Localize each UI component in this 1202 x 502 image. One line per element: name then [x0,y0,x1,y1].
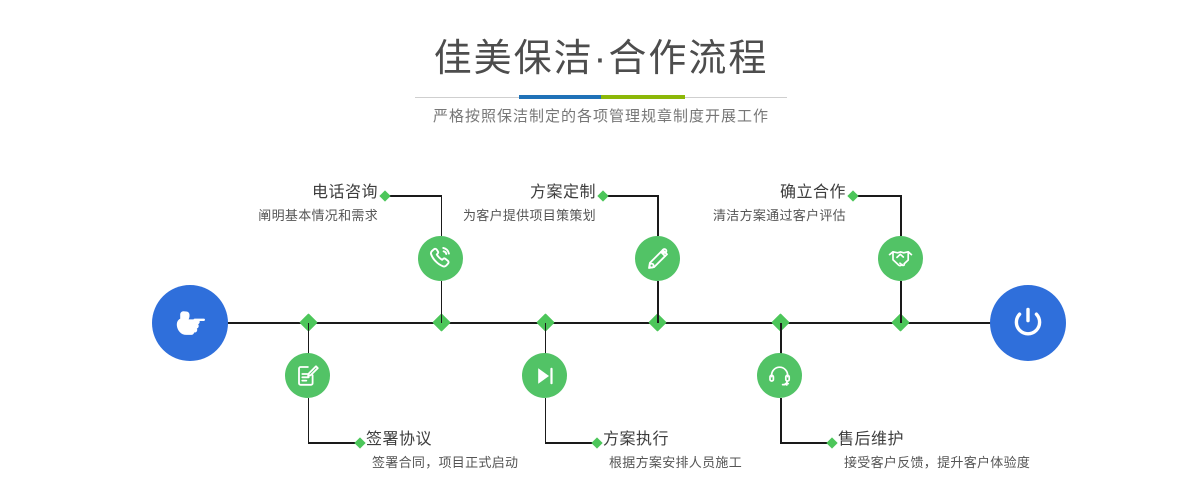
step-6-elbow-vertical [780,398,782,443]
page-subtitle: 严格按照保洁制定的各项管理规章制度开展工作 [0,106,1202,128]
step-5-title: 确立合作 [600,183,846,203]
step-5-label-marker [847,190,858,201]
step-5-elbow-vertical [900,195,902,236]
step-4-icon-circle[interactable] [522,353,567,398]
step-2-elbow-horizontal [308,442,360,444]
step-3-label: 方案定制 为客户提供项目策策划 [350,183,596,225]
pencil-design-icon [645,246,671,272]
step-2-desc: 签署合同，项目正式启动 [364,453,518,472]
play-execute-icon [532,363,558,389]
step-1-icon-circle[interactable] [418,236,463,281]
step-3-title: 方案定制 [350,183,596,203]
step-3-icon-circle[interactable] [635,236,680,281]
step-2-icon-circle[interactable] [285,353,330,398]
step-5-connector [900,281,902,323]
step-1-desc: 阐明基本情况和需求 [130,206,378,225]
step-1-label: 电话咨询 阐明基本情况和需求 [130,183,378,225]
step-4-label: 方案执行 根据方案安排人员施工 [601,430,742,472]
step-5-icon-circle[interactable] [878,236,923,281]
timeline-end-node[interactable] [990,285,1066,361]
step-5-desc: 清洁方案通过客户评估 [600,206,846,225]
step-2-label: 签署协议 签署合同，项目正式启动 [364,430,518,472]
step-4-elbow-horizontal [545,442,597,444]
divider-green-segment [601,95,685,99]
pointing-hand-icon [169,302,211,344]
step-2-elbow-vertical [308,398,310,443]
step-6-label: 售后维护 接受客户反馈，提升客户体验度 [836,430,1030,472]
step-1-title: 电话咨询 [130,183,378,203]
step-4-title: 方案执行 [601,430,742,450]
step-5-elbow-horizontal [853,195,901,197]
document-sign-icon [295,363,321,389]
page-header: 佳美保洁·合作流程 严格按照保洁制定的各项管理规章制度开展工作 [0,0,1202,140]
timeline-start-node[interactable] [152,285,228,361]
step-1-connector [441,281,443,323]
step-6-elbow-horizontal [780,442,832,444]
title-divider [415,95,787,99]
step-3-desc: 为客户提供项目策策划 [350,206,596,225]
step-6-desc: 接受客户反馈，提升客户体验度 [836,453,1030,472]
divider-blue-segment [519,95,601,99]
step-3-connector [657,281,659,323]
headset-support-icon [767,363,793,389]
step-6-icon-circle[interactable] [757,353,802,398]
page-title: 佳美保洁·合作流程 [0,36,1202,82]
step-2-title: 签署协议 [364,430,518,450]
phone-call-icon [427,245,454,272]
step-6-title: 售后维护 [836,430,1030,450]
step-4-desc: 根据方案安排人员施工 [601,453,742,472]
process-timeline: 电话咨询 阐明基本情况和需求 签署协议 签署合同，项目正式启动 [0,140,1202,502]
power-button-icon [1006,301,1050,345]
handshake-icon [887,245,914,272]
step-5-label: 确立合作 清洁方案通过客户评估 [600,183,846,225]
step-4-elbow-vertical [545,398,547,443]
